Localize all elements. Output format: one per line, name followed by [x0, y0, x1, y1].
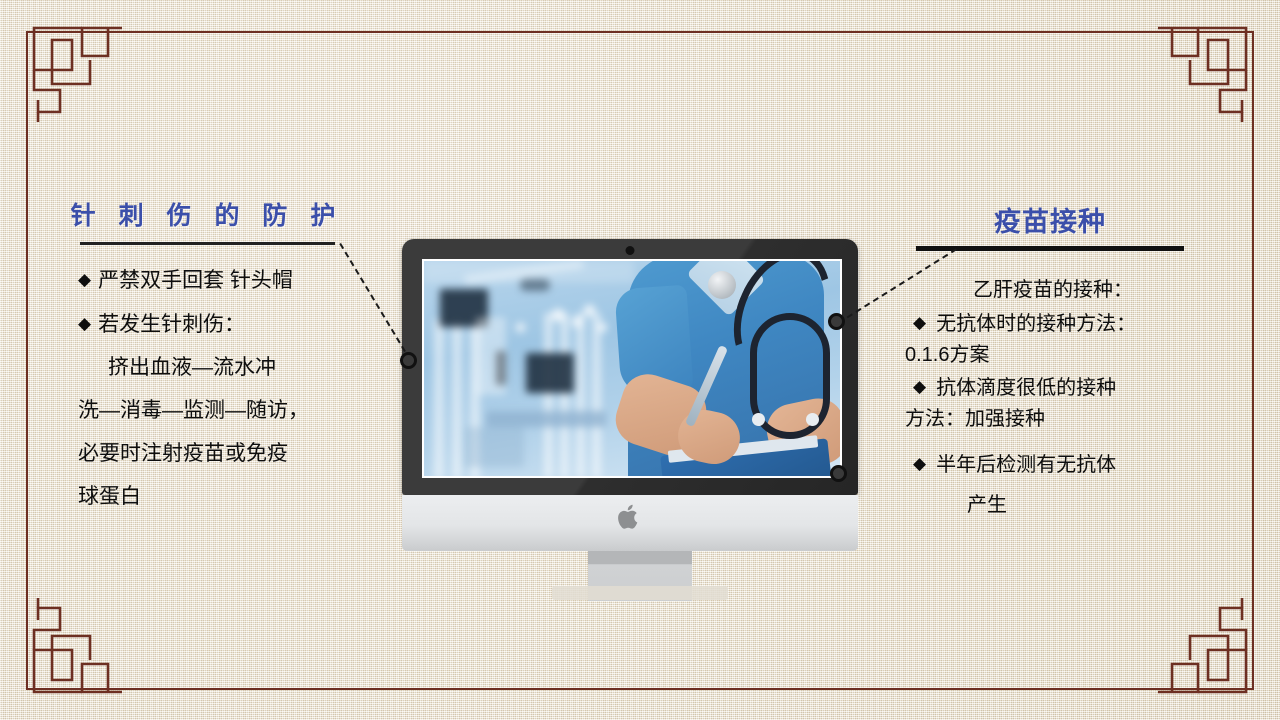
- corner-ornament-top-right: [1158, 12, 1268, 122]
- monitor-screen: [422, 259, 842, 478]
- monitor-bezel: [402, 239, 858, 495]
- webcam-icon: [626, 246, 635, 255]
- frame-line-top: [26, 31, 1254, 33]
- list-item: ◆半年后检测有无抗体: [905, 448, 1223, 481]
- list-item: 洗—消毒—监测—随访，: [78, 389, 378, 432]
- list-item-sub: 方法：加强接种: [905, 404, 1223, 435]
- list-item-label: 严禁双手回套 针头帽: [98, 269, 293, 292]
- corner-ornament-top-left: [12, 12, 122, 122]
- apple-logo-icon: [618, 503, 642, 531]
- right-body-text: 乙肝疫苗的接种： ◆无抗体时的接种方法： 0.1.6方案 ◆抗体滴度很低的接种 …: [905, 275, 1223, 521]
- nurse-figure: [610, 261, 840, 476]
- imac-monitor: [402, 239, 858, 551]
- left-section-heading: 针 刺 伤 的 防 护: [62, 196, 352, 245]
- screen-photo-nurse: [424, 261, 840, 476]
- list-item-label: 必要时注射疫苗或免疫: [78, 442, 288, 465]
- list-item-label: 洗—消毒—监测—随访，: [78, 399, 309, 422]
- list-item: 球蛋白: [78, 475, 378, 518]
- list-item-label: 球蛋白: [78, 485, 141, 508]
- list-item-label: 无抗体时的接种方法：: [936, 313, 1136, 335]
- left-title-text: 针 刺 伤 的 防 护: [62, 196, 352, 232]
- left-body-text: ◆严禁双手回套 针头帽 ◆若发生针刺伤： 挤出血液—流水冲 洗—消毒—监测—随访…: [78, 258, 378, 518]
- list-item-label: 若发生针刺伤：: [98, 313, 245, 336]
- list-item-label: 半年后检测有无抗体: [936, 454, 1116, 476]
- diamond-bullet-icon: ◆: [913, 454, 926, 473]
- frame-line-right: [1252, 31, 1254, 690]
- monitor-chin: [402, 495, 858, 551]
- monitor-stand-base: [552, 586, 728, 600]
- list-item: 必要时注射疫苗或免疫: [78, 432, 378, 475]
- list-item: 挤出血液—流水冲: [78, 346, 378, 389]
- diamond-bullet-icon: ◆: [913, 313, 926, 332]
- left-title-underline: [80, 242, 335, 245]
- list-item-label: 挤出血液—流水冲: [108, 356, 276, 379]
- frame-line-bottom: [26, 688, 1254, 690]
- corner-ornament-bottom-right: [1158, 598, 1268, 708]
- handle-screen-left[interactable]: [400, 352, 417, 369]
- right-intro-label: 乙肝疫苗的接种：: [905, 275, 1223, 306]
- list-item: ◆严禁双手回套 针头帽: [78, 258, 378, 302]
- list-item: ◆若发生针刺伤：: [78, 302, 378, 346]
- list-item: ◆无抗体时的接种方法：: [905, 307, 1223, 340]
- frame-line-left: [26, 31, 28, 690]
- list-item: ◆抗体滴度很低的接种: [905, 371, 1223, 404]
- handle-screen-bottom-right[interactable]: [830, 465, 847, 482]
- diamond-bullet-icon: ◆: [913, 377, 926, 396]
- diamond-bullet-icon: ◆: [78, 270, 91, 289]
- list-item-sub: 0.1.6方案: [905, 340, 1223, 371]
- list-item-label: 抗体滴度很低的接种: [936, 377, 1116, 399]
- slide-canvas: 针 刺 伤 的 防 护 ◆严禁双手回套 针头帽 ◆若发生针刺伤： 挤出血液—流水…: [0, 0, 1280, 720]
- corner-ornament-bottom-left: [12, 598, 122, 708]
- handle-screen-right[interactable]: [828, 313, 845, 330]
- right-section-heading: 疫苗接种: [900, 200, 1200, 251]
- right-title-text: 疫苗接种: [900, 200, 1200, 239]
- diamond-bullet-icon: ◆: [78, 314, 91, 333]
- spacer: [905, 435, 1223, 448]
- list-item-sub: 产生: [905, 490, 1223, 521]
